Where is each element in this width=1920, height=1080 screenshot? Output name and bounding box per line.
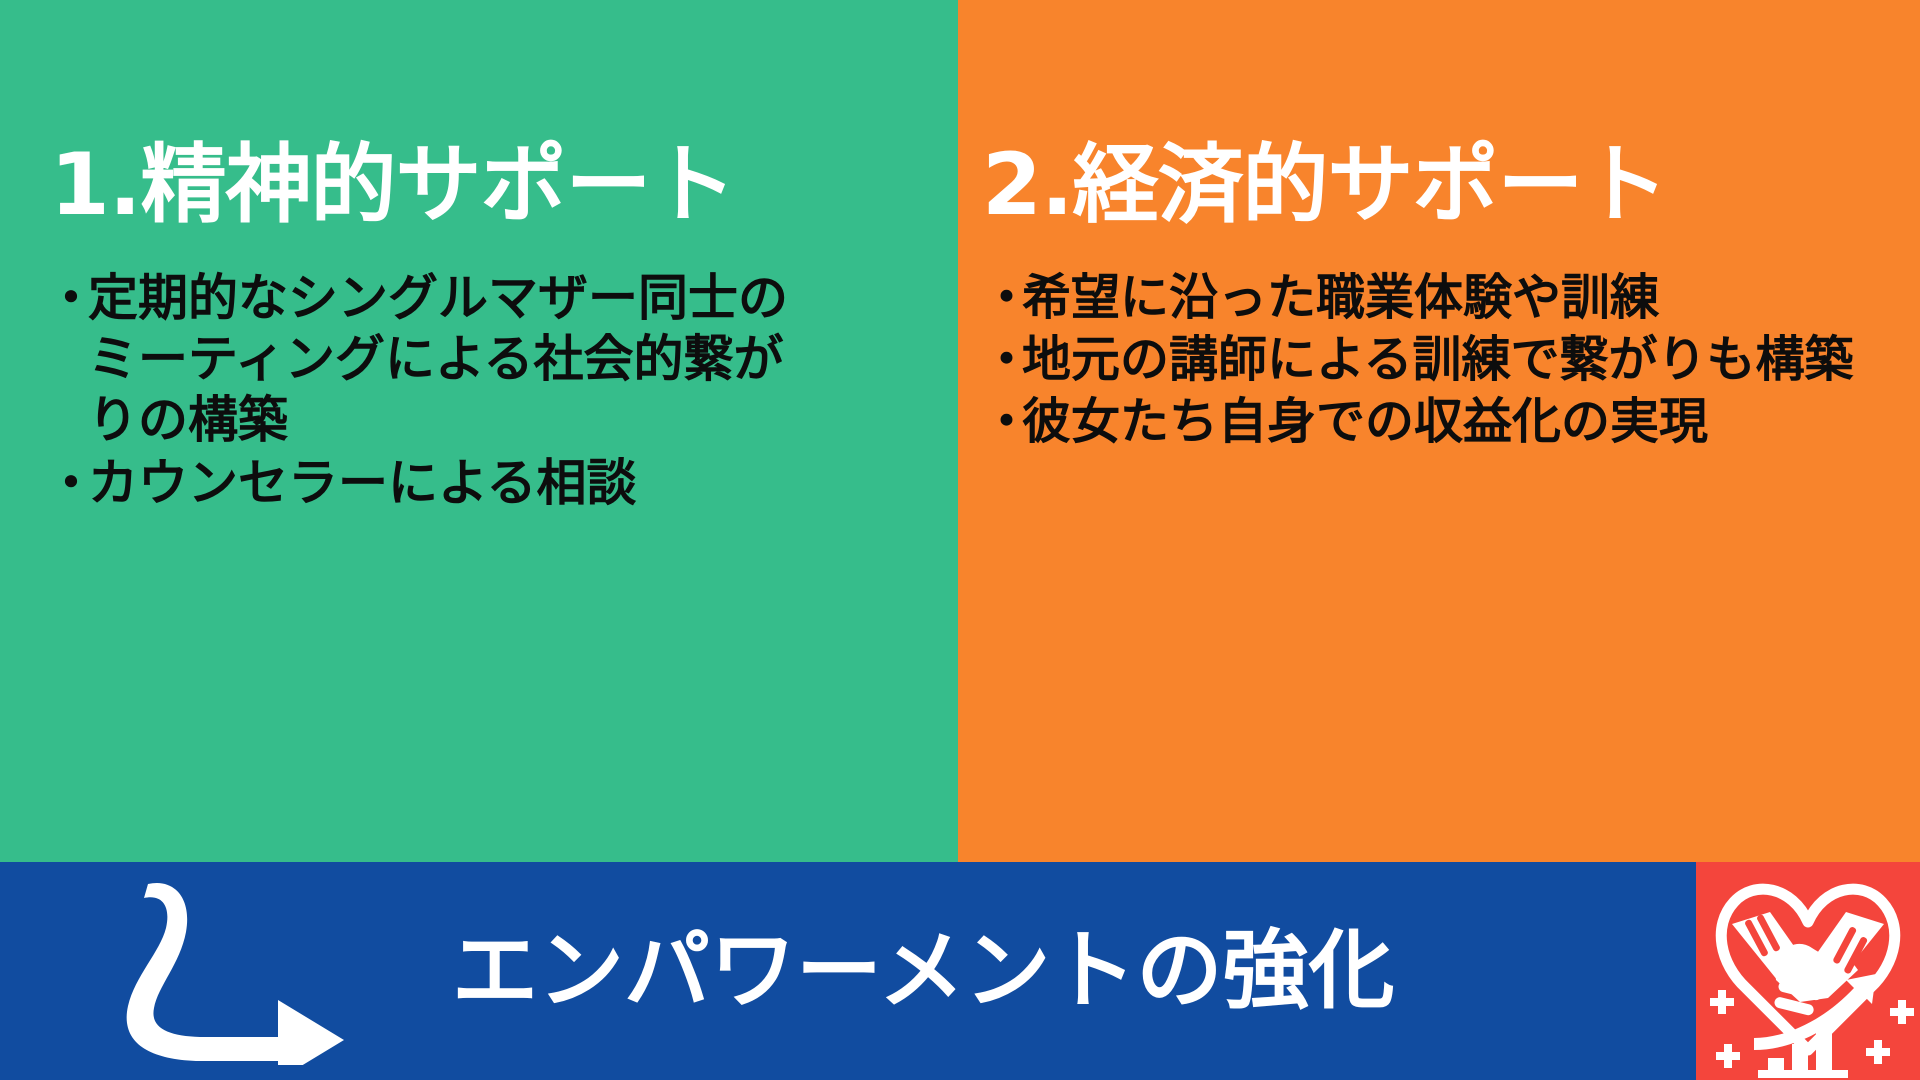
support-columns: 1.精神的サポート ・ 定期的なシングルマザー同士のミーティングによる社会的繋が… xyxy=(0,0,1920,862)
bullet-text: 地元の講師による訓練で繋がりも構築 xyxy=(1022,331,1854,388)
bullet-text: カウンセラーによる相談 xyxy=(88,454,637,512)
list-item: ・ 定期的なシングルマザー同士のミーティングによる社会的繋がりの構築 xyxy=(40,268,818,451)
column-emotional-support: 1.精神的サポート ・ 定期的なシングルマザー同士のミーティングによる社会的繋が… xyxy=(0,0,958,862)
slide-root: 1.精神的サポート ・ 定期的なシングルマザー同士のミーティングによる社会的繋が… xyxy=(0,0,1920,1080)
bullet-marker-icon: ・ xyxy=(46,268,96,329)
column-title-emotional-support: 1.精神的サポート xyxy=(50,0,936,228)
column-title-economic-support: 2.経済的サポート xyxy=(982,0,1902,228)
list-item: ・ 彼女たち自身での収益化の実現 xyxy=(976,392,1902,452)
heart-handshake-growth-logo xyxy=(1696,862,1920,1080)
bullet-marker-icon: ・ xyxy=(46,453,96,514)
bullet-text: 希望に沿った職業体験や訓練 xyxy=(1022,269,1659,326)
list-item: ・ 地元の講師による訓練で繋がりも構築 xyxy=(976,330,1902,390)
list-item: ・ 希望に沿った職業体験や訓練 xyxy=(976,268,1902,328)
bullet-list-emotional-support: ・ 定期的なシングルマザー同士のミーティングによる社会的繋がりの構築 ・ カウン… xyxy=(40,268,936,514)
curved-arrow-right-icon xyxy=(118,880,358,1065)
list-item: ・ カウンセラーによる相談 xyxy=(40,453,818,514)
bottom-banner: エンパワーメントの強化 xyxy=(0,862,1920,1080)
bullet-marker-icon: ・ xyxy=(982,268,1031,328)
bullet-marker-icon: ・ xyxy=(982,330,1031,390)
bullet-text: 彼女たち自身での収益化の実現 xyxy=(1022,393,1708,450)
bullet-list-economic-support: ・ 希望に沿った職業体験や訓練 ・ 地元の講師による訓練で繋がりも構築 ・ 彼女… xyxy=(976,268,1902,451)
bullet-text: 定期的なシングルマザー同士のミーティングによる社会的繋がりの構築 xyxy=(88,269,788,449)
banner-title: エンパワーメントの強化 xyxy=(452,928,1395,1014)
column-economic-support: 2.経済的サポート ・ 希望に沿った職業体験や訓練 ・ 地元の講師による訓練で繋… xyxy=(958,0,1920,862)
bullet-marker-icon: ・ xyxy=(982,392,1031,452)
